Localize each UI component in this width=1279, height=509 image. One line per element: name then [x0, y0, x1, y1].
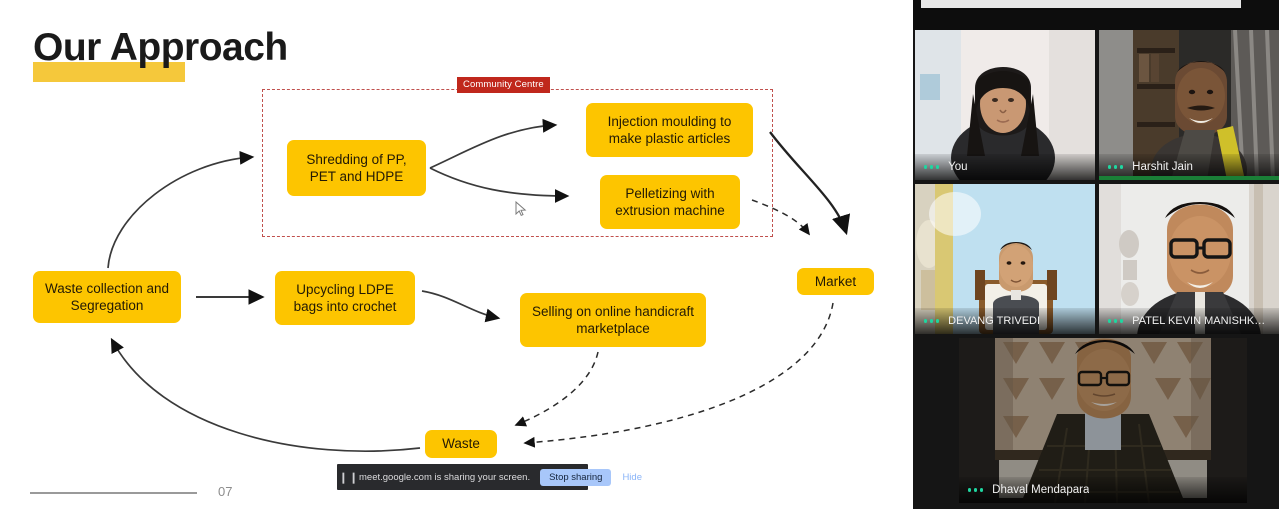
node-waste-collection: Waste collection and Segregation: [33, 271, 181, 323]
page-number: 07: [218, 484, 232, 499]
mouse-cursor-icon: [515, 201, 527, 217]
node-waste: Waste: [425, 430, 497, 458]
participant-name: Dhaval Mendapara: [992, 484, 1089, 496]
panel-top-strip: [921, 0, 1241, 8]
tile-name-row: DEVANG TRIVEDI: [915, 308, 1095, 334]
participant-name: Harshit Jain: [1132, 161, 1193, 173]
participant-name: PATEL KEVIN MANISHK…: [1132, 315, 1265, 327]
share-message: meet.google.com is sharing your screen.: [359, 472, 530, 483]
shared-slide: Our Approach Community Centre: [0, 0, 913, 509]
video-tile-dhaval-mendapara[interactable]: Dhaval Mendapara: [959, 338, 1247, 503]
screen-root: Our Approach Community Centre: [0, 0, 1279, 509]
hide-button[interactable]: Hide: [622, 472, 642, 483]
mic-activity-icon: [924, 165, 939, 168]
pause-icon[interactable]: ❙❙: [343, 471, 355, 484]
mic-activity-icon: [924, 319, 939, 322]
mic-activity-icon: [1108, 165, 1123, 168]
video-tile-patel-kevin[interactable]: PATEL KEVIN MANISHK…: [1099, 184, 1279, 334]
participant-name: DEVANG TRIVEDI: [948, 315, 1040, 327]
mic-activity-icon: [1108, 319, 1123, 322]
node-market: Market: [797, 268, 874, 295]
speaking-indicator: [1099, 176, 1279, 180]
screen-share-bar: ❙❙ meet.google.com is sharing your scree…: [337, 464, 588, 490]
participant-name: You: [948, 161, 967, 173]
node-pelletizing: Pelletizing with extrusion machine: [600, 175, 740, 229]
video-tile-you[interactable]: You: [915, 30, 1095, 180]
node-selling-online: Selling on online handicraft marketplace: [520, 293, 706, 347]
participant-video-panel: You: [913, 0, 1279, 509]
node-shredding: Shredding of PP, PET and HDPE: [287, 140, 426, 196]
mic-activity-icon: [968, 488, 983, 491]
tile-name-row: PATEL KEVIN MANISHK…: [1099, 308, 1279, 334]
footer-rule: [30, 492, 197, 494]
panel-top-bar: [913, 0, 1279, 30]
tile-name-row: Dhaval Mendapara: [959, 477, 1247, 503]
stop-sharing-button[interactable]: Stop sharing: [540, 469, 611, 486]
video-tile-devang-trivedi[interactable]: DEVANG TRIVEDI: [915, 184, 1095, 334]
node-upcycling: Upcycling LDPE bags into crochet: [275, 271, 415, 325]
node-injection-moulding: Injection moulding to make plastic artic…: [586, 103, 753, 157]
tile-name-row: You: [915, 154, 1095, 180]
video-tile-harshit-jain[interactable]: Harshit Jain: [1099, 30, 1279, 180]
